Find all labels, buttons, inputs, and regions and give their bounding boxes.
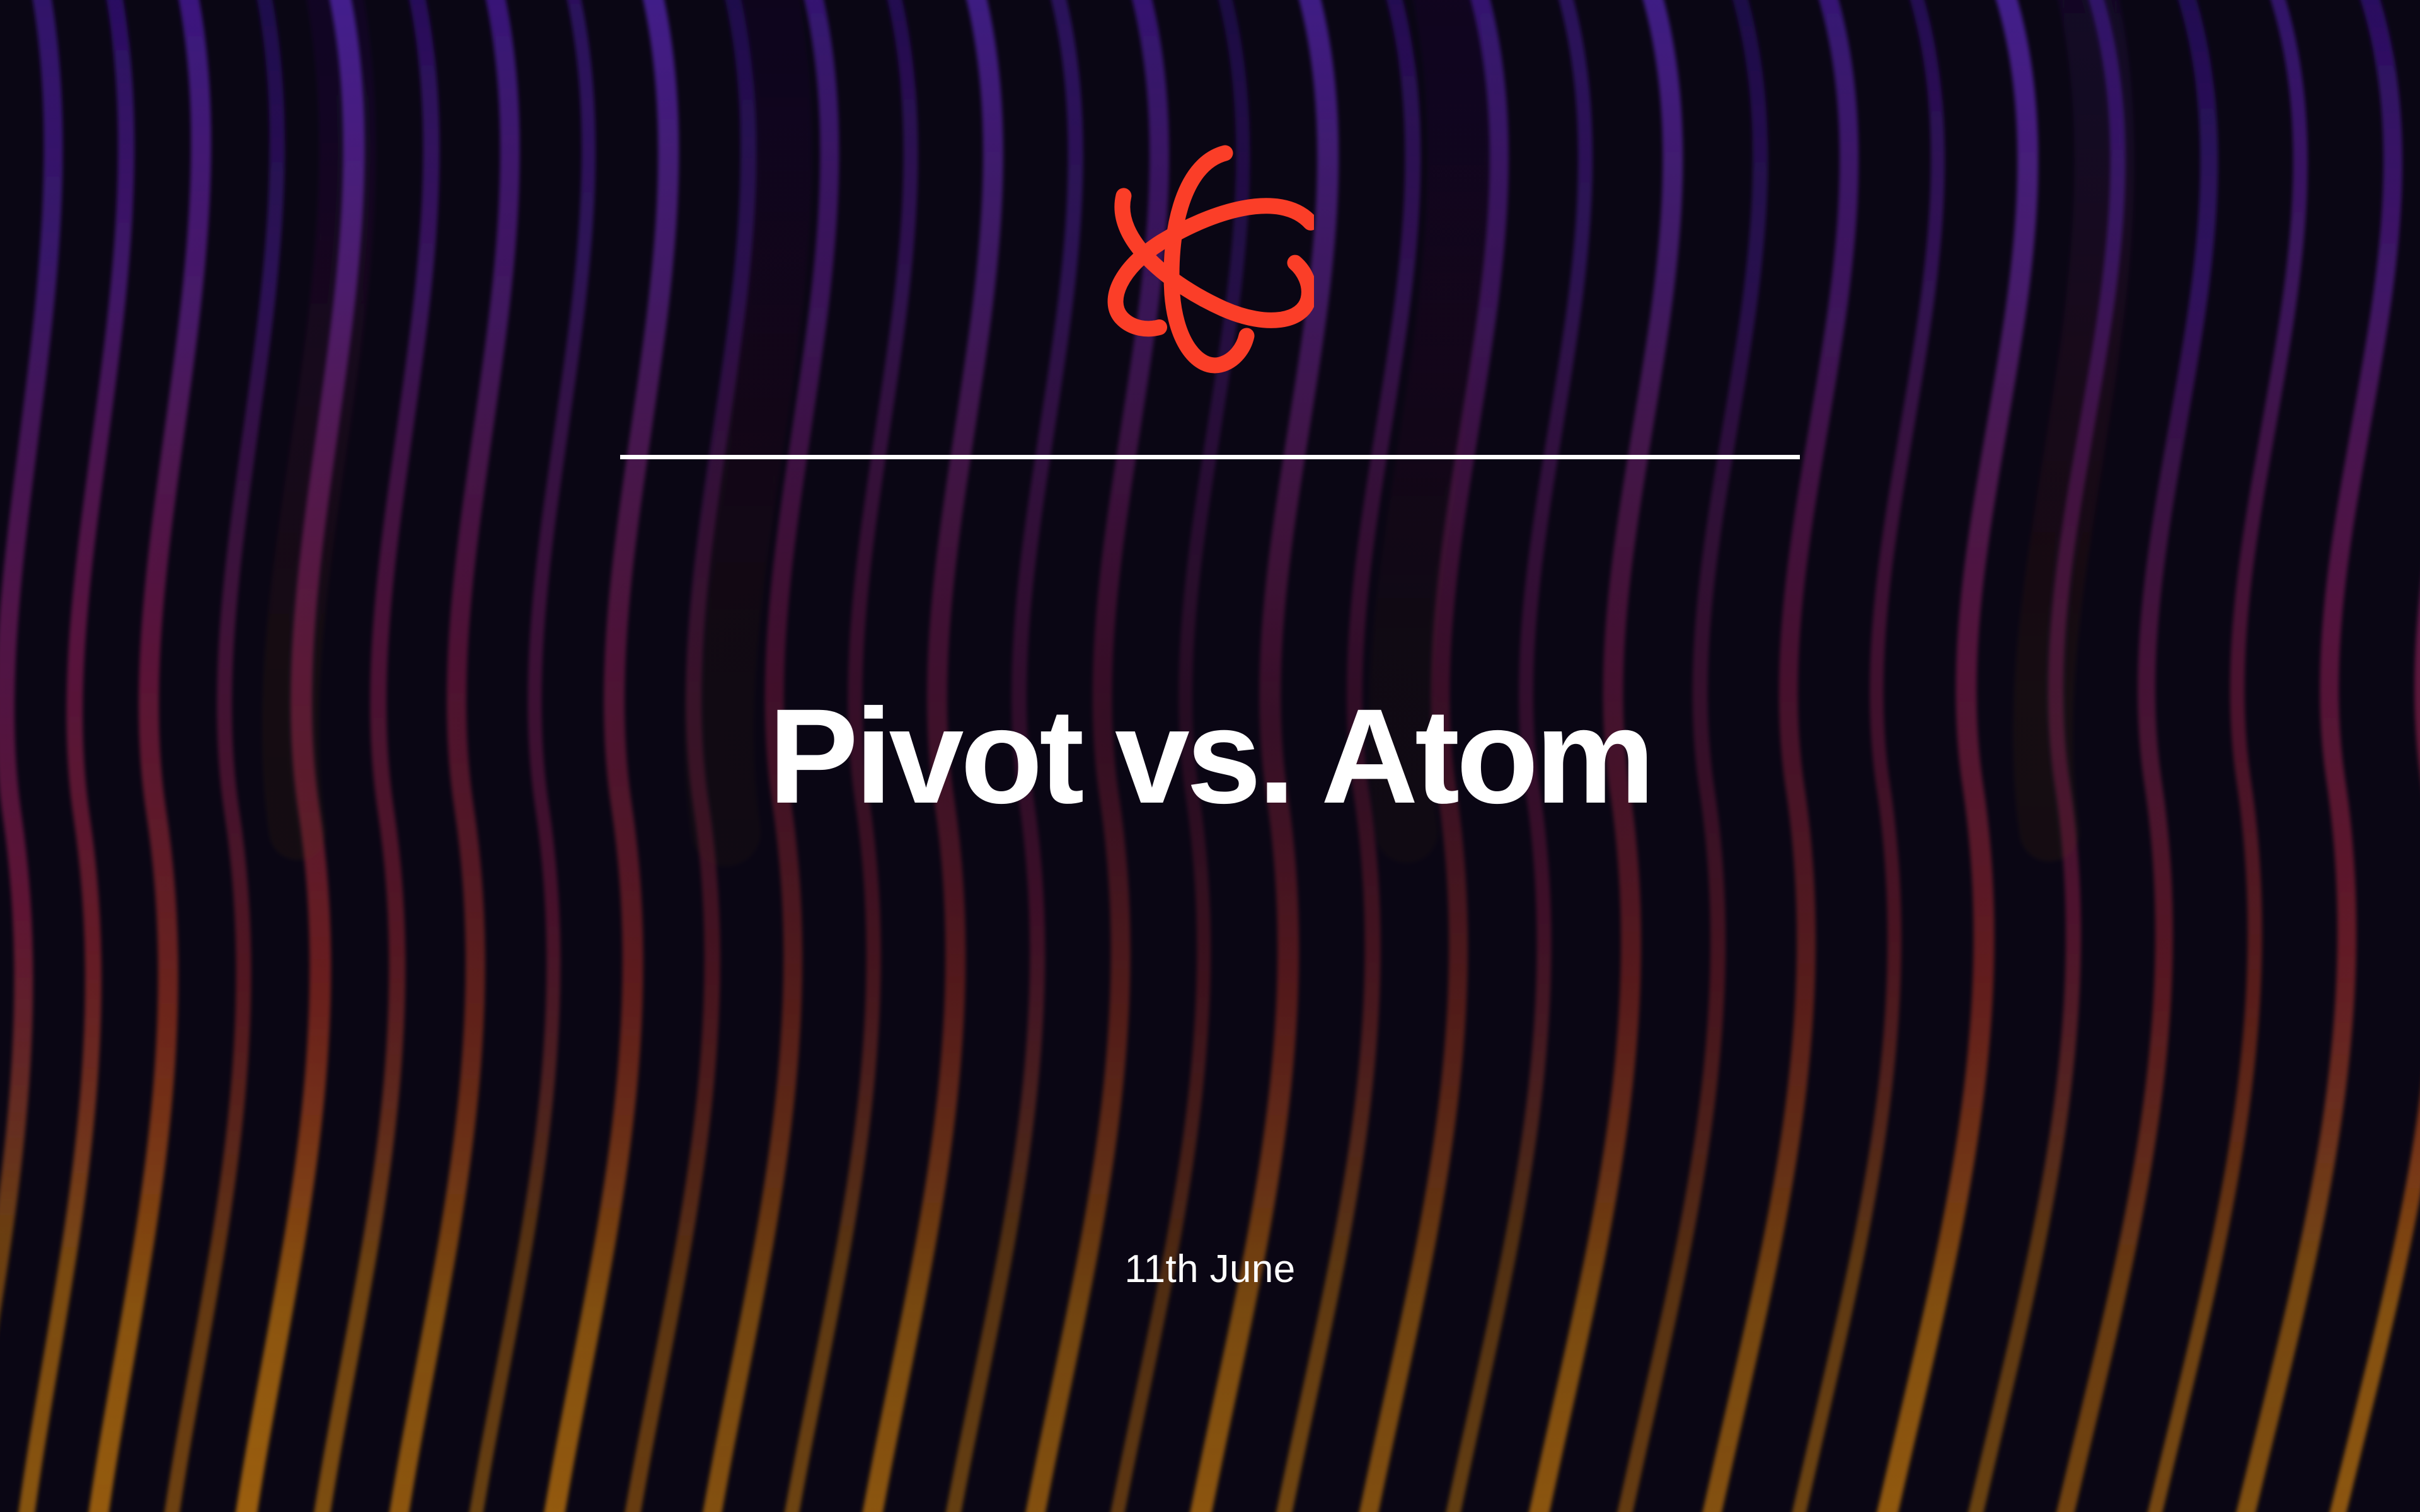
slide-date: 11th June [0, 1247, 2420, 1291]
atom-logo [1106, 142, 1314, 376]
page-title: Pivot vs. Atom [0, 686, 2420, 828]
slide-content: Pivot vs. Atom 11th June [0, 0, 2420, 1512]
divider-line [620, 455, 1800, 459]
presentation-slide: Pivot vs. Atom 11th June [0, 0, 2420, 1512]
